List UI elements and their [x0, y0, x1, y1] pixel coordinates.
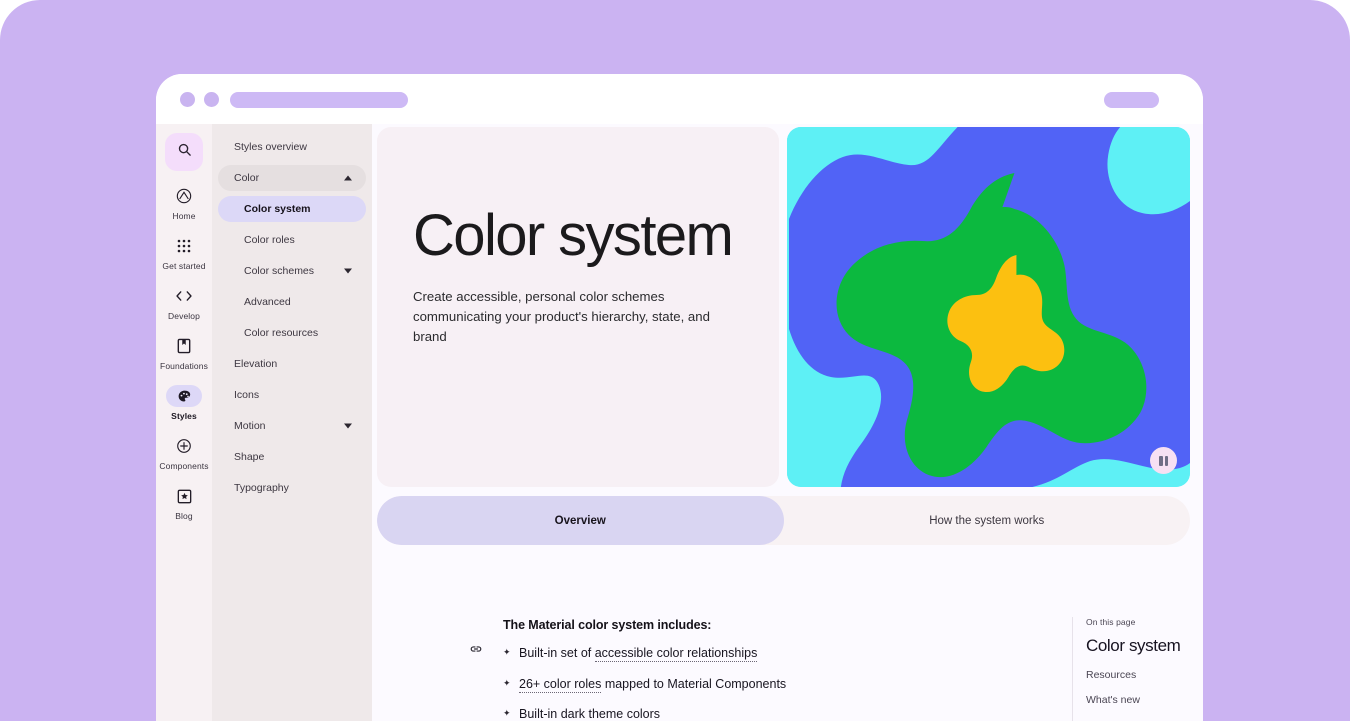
nav-item-label: Elevation — [234, 358, 277, 370]
article-bullet-list: ✦ Built-in set of accessible color relat… — [503, 646, 1072, 721]
page-title: Color system — [413, 205, 741, 267]
bookmark-page-icon — [166, 335, 202, 357]
nav-item-motion[interactable]: Motion — [218, 413, 366, 439]
tab-overview[interactable]: Overview — [377, 496, 784, 545]
nav-item-advanced[interactable]: Advanced — [218, 289, 366, 315]
browser-chrome — [156, 74, 1203, 124]
nav-item-elevation[interactable]: Elevation — [218, 351, 366, 377]
list-item-text: Built-in set of accessible color relatio… — [519, 646, 757, 662]
on-this-page-title: Color system — [1086, 635, 1190, 656]
address-bar-placeholder[interactable] — [230, 92, 408, 108]
inline-link[interactable]: 26+ color roles — [519, 677, 601, 693]
on-this-page-panel: On this page Color system Resources What… — [1072, 617, 1190, 721]
sparkle-bullet-icon: ✦ — [503, 646, 519, 660]
page-subtitle: Create accessible, personal color scheme… — [413, 287, 733, 346]
nav-item-typography[interactable]: Typography — [218, 475, 366, 501]
list-item-post: mapped to Material Components — [601, 677, 786, 691]
palette-icon — [166, 385, 202, 407]
sidebar-item-blog[interactable]: Blog — [158, 482, 210, 523]
app-body: Home Get started — [156, 124, 1203, 721]
search-button[interactable] — [165, 133, 203, 171]
nav-item-label: Advanced — [244, 296, 291, 308]
nav-item-label: Styles overview — [234, 141, 307, 153]
nav-item-label: Color system — [244, 203, 311, 215]
tab-label: Overview — [555, 515, 606, 527]
list-item-post: colors — [623, 707, 660, 721]
list-item: ✦ 26+ color roles mapped to Material Com… — [503, 677, 1072, 693]
chevron-down-icon — [344, 424, 352, 429]
nav-item-styles-overview[interactable]: Styles overview — [218, 134, 366, 160]
article-heading: The Material color system includes: — [503, 618, 1072, 632]
nav-item-icons[interactable]: Icons — [218, 382, 366, 408]
sidebar-item-label: Blog — [175, 511, 192, 521]
on-this-page-link-whats-new[interactable]: What's new — [1086, 694, 1190, 706]
sidebar-item-label: Styles — [171, 411, 197, 421]
list-item-pre: Built-in set of — [519, 646, 595, 660]
sidebar-item-develop[interactable]: Develop — [158, 282, 210, 323]
sidebar-item-foundations[interactable]: Foundations — [158, 332, 210, 373]
main-content: Color system Create accessible, personal… — [372, 124, 1203, 721]
page-backdrop: Home Get started — [0, 0, 1350, 721]
nav-item-label: Color resources — [244, 327, 318, 339]
article-section: The Material color system includes: ✦ Bu… — [377, 618, 1190, 721]
nav-item-label: Icons — [234, 389, 259, 401]
nav-item-shape[interactable]: Shape — [218, 444, 366, 470]
chevron-down-icon — [344, 269, 352, 274]
nav-item-color-roles[interactable]: Color roles — [218, 227, 366, 253]
star-square-icon — [166, 485, 202, 507]
on-this-page-link-resources[interactable]: Resources — [1086, 669, 1190, 681]
pause-bar-right — [1165, 456, 1169, 466]
article-body: The Material color system includes: ✦ Bu… — [469, 618, 1072, 721]
nav-item-color-system[interactable]: Color system — [218, 196, 366, 222]
on-this-page-kicker: On this page — [1086, 617, 1190, 627]
sidebar-item-styles[interactable]: Styles — [158, 382, 210, 423]
nav-group-color[interactable]: Color — [218, 165, 366, 191]
nav-item-label: Shape — [234, 451, 264, 463]
browser-window: Home Get started — [156, 74, 1203, 721]
sidebar-item-components[interactable]: Components — [158, 432, 210, 473]
color-blob-illustration — [787, 127, 1190, 487]
nav-item-label: Color roles — [244, 234, 295, 246]
hero-row: Color system Create accessible, personal… — [377, 127, 1190, 487]
search-icon — [177, 142, 192, 162]
plus-circle-icon — [166, 435, 202, 457]
pause-button[interactable] — [1150, 447, 1177, 474]
nav-item-label: Typography — [234, 482, 289, 494]
list-item-text: 26+ color roles mapped to Material Compo… — [519, 677, 786, 693]
chevron-up-icon — [344, 176, 352, 181]
nav-item-label: Color schemes — [244, 265, 314, 277]
inline-link[interactable]: dark theme — [561, 707, 624, 721]
list-item-text: Built-in dark theme colors — [519, 707, 660, 721]
list-item-pre: Built-in — [519, 707, 561, 721]
tab-how-the-system-works[interactable]: How the system works — [784, 496, 1191, 545]
tab-label: How the system works — [929, 515, 1044, 527]
list-item: ✦ Built-in dark theme colors — [503, 707, 1072, 721]
sidebar-item-label: Components — [159, 461, 208, 471]
sidebar-item-home[interactable]: Home — [158, 182, 210, 223]
chrome-right-placeholder[interactable] — [1104, 92, 1159, 108]
nav-item-color-schemes[interactable]: Color schemes — [218, 258, 366, 284]
code-brackets-icon — [166, 285, 202, 307]
link-icon[interactable] — [469, 642, 483, 661]
sidebar-item-label: Develop — [168, 311, 200, 321]
pause-bar-left — [1159, 456, 1163, 466]
tab-bar: Overview How the system works — [377, 496, 1190, 545]
grid-dots-icon — [166, 235, 202, 257]
sidebar-item-label: Get started — [162, 261, 205, 271]
hero-media — [787, 127, 1190, 487]
sidebar-item-label: Home — [172, 211, 195, 221]
hero-text-card: Color system Create accessible, personal… — [377, 127, 779, 487]
nav-item-color-resources[interactable]: Color resources — [218, 320, 366, 346]
nav-item-label: Motion — [234, 420, 266, 432]
nav-item-label: Color — [234, 172, 259, 184]
icon-rail: Home Get started — [156, 124, 212, 721]
secondary-nav: Styles overview Color Color system Color… — [212, 124, 372, 721]
sparkle-bullet-icon: ✦ — [503, 677, 519, 691]
window-dot-right[interactable] — [204, 92, 219, 107]
list-item: ✦ Built-in set of accessible color relat… — [503, 646, 1072, 662]
sidebar-item-label: Foundations — [160, 361, 208, 371]
material-logo-icon — [166, 185, 202, 207]
sidebar-item-get-started[interactable]: Get started — [158, 232, 210, 273]
window-dot-left[interactable] — [180, 92, 195, 107]
sparkle-bullet-icon: ✦ — [503, 707, 519, 721]
inline-link[interactable]: accessible color relationships — [595, 646, 758, 662]
